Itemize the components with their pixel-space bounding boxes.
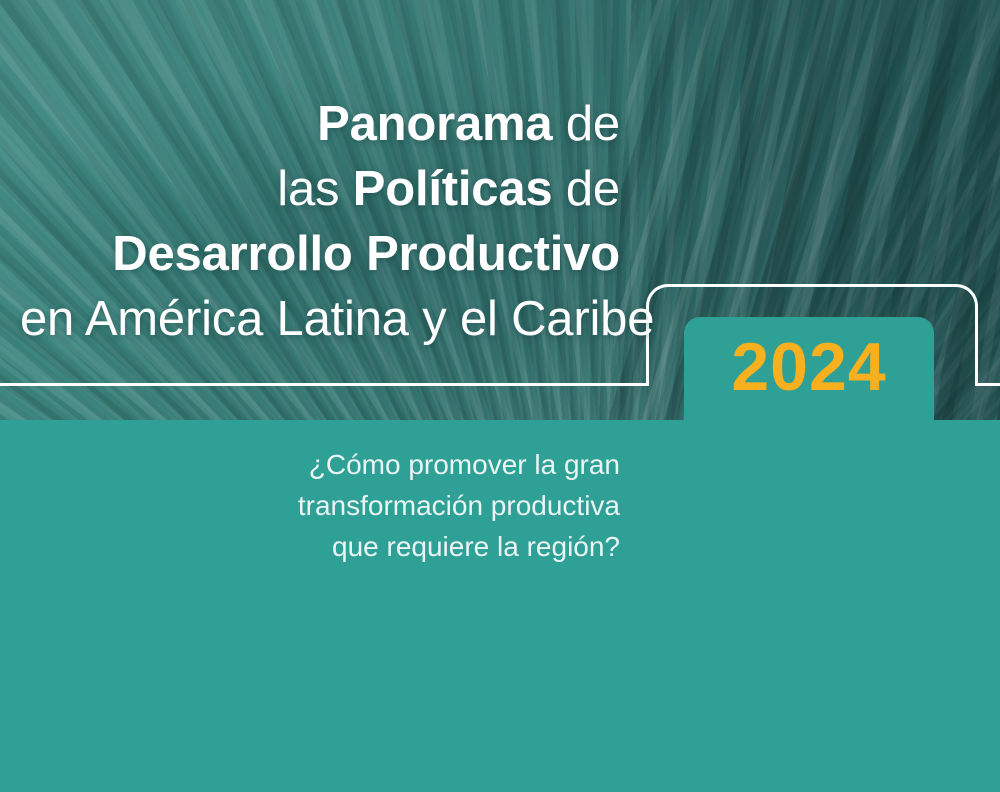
headline-line-3-bold: Desarrollo Productivo bbox=[112, 227, 620, 281]
subtitle-line-3: que requiere la región? bbox=[20, 526, 620, 567]
cover-headline: Panorama de las Políticas de Desarrollo … bbox=[20, 92, 620, 352]
headline-line-3: Desarrollo Productivo bbox=[20, 222, 620, 287]
subtitle-line-2: transformación productiva bbox=[20, 485, 620, 526]
white-horizontal-rule bbox=[0, 383, 649, 386]
headline-line-2-light: de bbox=[552, 162, 620, 216]
year-badge-label: 2024 bbox=[731, 333, 886, 407]
white-horizontal-rule-right bbox=[975, 383, 1000, 386]
headline-line-2-bold: Políticas bbox=[353, 162, 553, 216]
headline-line-1-bold: Panorama bbox=[317, 97, 552, 151]
headline-line-2-lead: las bbox=[277, 162, 352, 216]
year-badge: 2024 bbox=[684, 317, 934, 422]
headline-line-4-light: en América Latina y el Caribe bbox=[20, 292, 654, 346]
subtitle-line-1: ¿Cómo promover la gran bbox=[20, 444, 620, 485]
report-cover: 2024 Panorama de las Políticas de Desarr… bbox=[0, 0, 1000, 792]
headline-line-1-light: de bbox=[552, 97, 620, 151]
headline-line-4: en América Latina y el Caribe bbox=[20, 287, 620, 352]
headline-line-1: Panorama de bbox=[20, 92, 620, 157]
cover-subtitle: ¿Cómo promover la gran transformación pr… bbox=[20, 444, 620, 567]
headline-line-2: las Políticas de bbox=[20, 157, 620, 222]
